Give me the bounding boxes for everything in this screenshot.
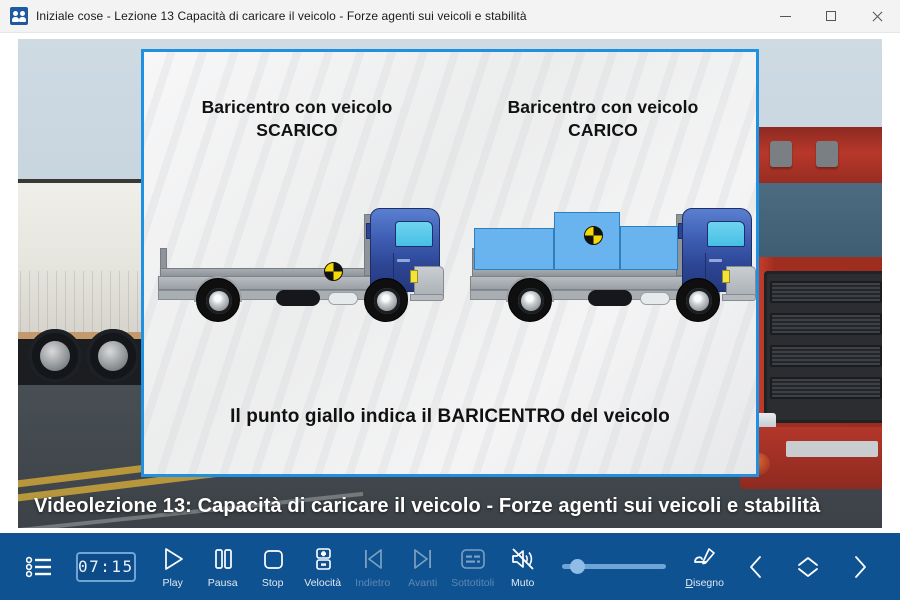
play-icon [160,544,186,574]
player-toolbar: 07:15 Play Pausa [0,533,900,600]
subtitles-label: Sottotitoli [451,577,494,589]
chevron-updown-icon [795,552,821,582]
truck-illustrations [144,204,756,334]
volume-track[interactable] [562,564,666,569]
app-window: Iniziale cose - Lezione 13 Capacità di c… [0,0,900,600]
window-title: Iniziale cose - Lezione 13 Capacità di c… [36,9,762,23]
center-of-gravity-marker-loaded [584,226,603,245]
stop-label: Stop [262,577,284,589]
speed-button[interactable]: Velocità [300,539,346,595]
minimize-button[interactable] [762,0,808,33]
next-button[interactable] [836,539,884,595]
truck-unloaded [152,204,452,332]
subtitles-icon [459,544,487,574]
heading-unloaded: Baricentro con veicolo SCARICO [144,96,450,142]
mute-button[interactable]: Muto [500,539,546,595]
play-label: Play [162,577,182,589]
back-label: Indietro [355,577,390,589]
chevron-right-icon [848,552,872,582]
lesson-title: Videolezione 13: Capacità di caricare il… [18,495,820,518]
chevron-left-icon [744,552,768,582]
users-icon [10,7,28,25]
prev-button[interactable] [732,539,780,595]
slide-headings: Baricentro con veicolo SCARICO Baricentr… [144,96,756,142]
slide-caption: Il punto giallo indica il BARICENTRO del… [144,406,756,428]
pause-label: Pausa [208,577,238,589]
draw-label: Disegno [685,577,724,589]
lesson-title-strip: Videolezione 13: Capacità di caricare il… [18,484,882,528]
skip-back-icon [360,544,386,574]
volume-thumb[interactable] [570,559,585,574]
back-button[interactable]: Indietro [350,539,396,595]
mute-icon [509,544,537,574]
heading-loaded-line1: Baricentro con veicolo [508,97,699,117]
close-button[interactable] [854,0,900,33]
updown-button[interactable] [784,539,832,595]
draw-label-accel: D [685,577,693,589]
title-bar: Iniziale cose - Lezione 13 Capacità di c… [0,0,900,33]
play-button[interactable]: Play [150,539,196,595]
maximize-button[interactable] [808,0,854,33]
list-icon [26,552,52,582]
forward-button[interactable]: Avanti [400,539,446,595]
speed-label: Velocità [304,577,341,589]
center-of-gravity-marker-unloaded [324,262,343,281]
heading-loaded-line2: CARICO [450,119,756,142]
pause-button[interactable]: Pausa [200,539,246,595]
stop-button[interactable]: Stop [250,539,296,595]
subtitles-button[interactable]: Sottotitoli [450,539,496,595]
maximize-icon [826,11,836,21]
pause-icon [210,544,236,574]
draw-label-rest: isegno [693,577,724,589]
pencil-icon [691,544,719,574]
volume-slider[interactable] [562,564,666,569]
video-stage[interactable]: Baricentro con veicolo SCARICO Baricentr… [18,39,882,528]
heading-loaded: Baricentro con veicolo CARICO [450,96,756,142]
index-button[interactable] [16,539,62,595]
slide-panel: Baricentro con veicolo SCARICO Baricentr… [141,49,759,477]
draw-button[interactable]: Disegno [682,539,728,595]
mute-label: Muto [511,577,534,589]
forward-label: Avanti [408,577,437,589]
return-button[interactable] [888,539,900,595]
timer-display: 07:15 [76,552,136,582]
minimize-icon [780,16,791,17]
truck-loaded [464,204,759,332]
heading-unloaded-line1: Baricentro con veicolo [202,97,393,117]
heading-unloaded-line2: SCARICO [144,119,450,142]
speed-icon [310,544,336,574]
skip-fwd-icon [410,544,436,574]
close-icon [871,10,883,22]
window-controls [762,0,900,33]
video-stage-wrapper: Baricentro con veicolo SCARICO Baricentr… [0,33,900,533]
stop-icon [260,544,286,574]
